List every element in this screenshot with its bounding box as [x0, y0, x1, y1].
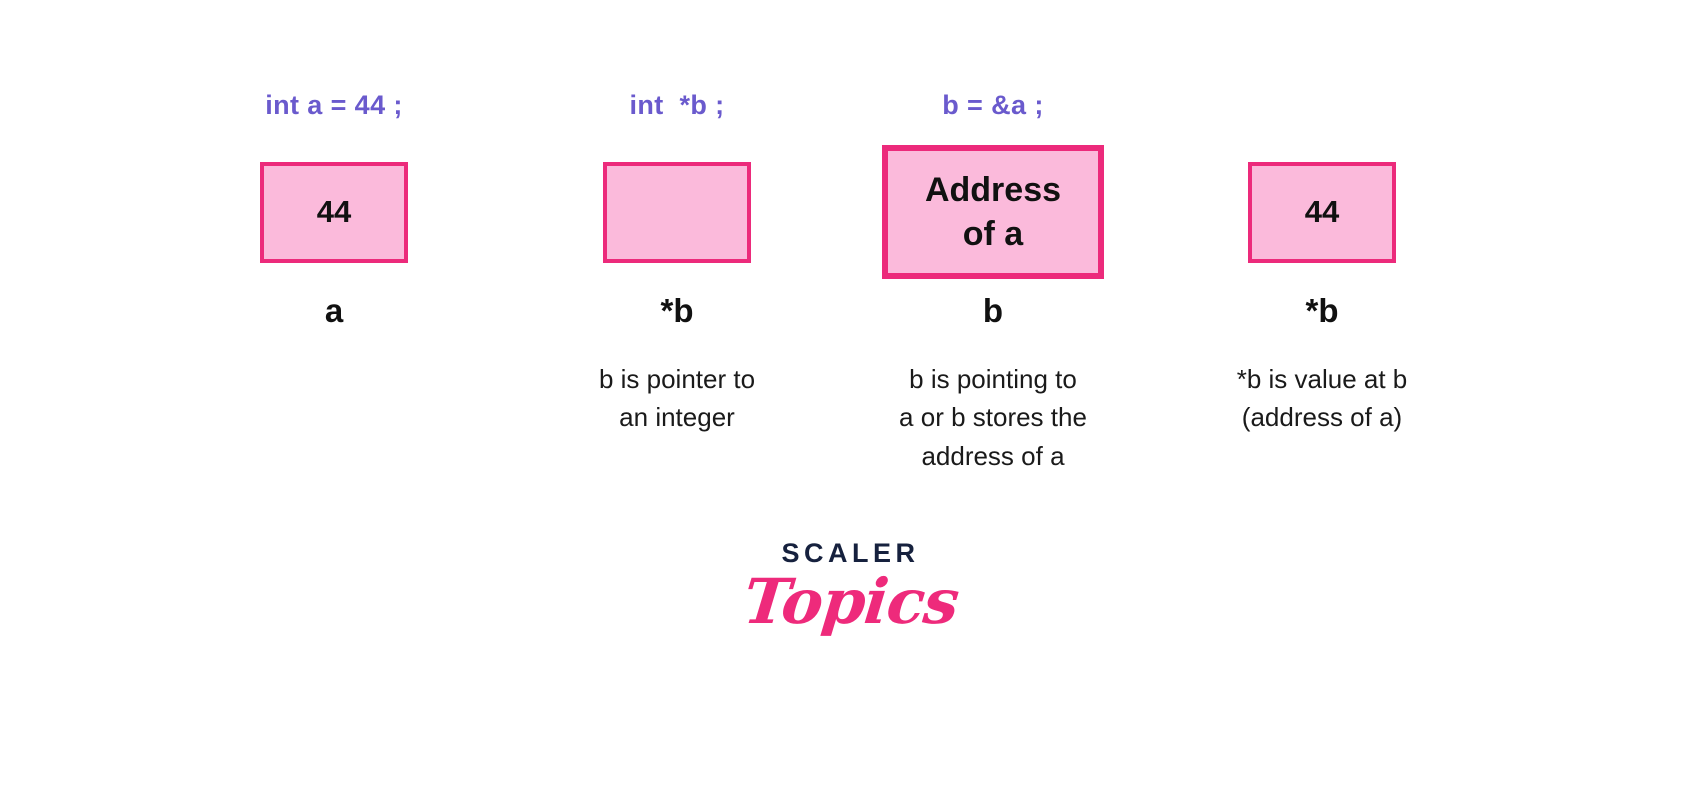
caption-line: (address of a): [1237, 398, 1408, 436]
memory-box-a: 44: [260, 162, 408, 263]
code-label-address-assign: b = &a ;: [942, 88, 1043, 122]
caption-line: b is pointing to: [899, 360, 1087, 398]
memory-box-slot-dereference: 44: [1248, 138, 1396, 286]
memory-box-address-assign-line1: Address: [925, 168, 1061, 212]
var-name-dereference: *b: [1306, 294, 1339, 330]
memory-box-slot-pointer-decl: [603, 138, 751, 286]
diagram-column-a: int a = 44 ; 44 a: [184, 88, 484, 360]
var-name-pointer-decl: *b: [661, 294, 694, 330]
var-name-a: a: [325, 294, 343, 330]
memory-box-a-value: 44: [317, 194, 351, 231]
pointer-diagram: int a = 44 ; 44 a int *b ; *b b is point…: [0, 0, 1701, 811]
memory-box-dereference-value: 44: [1305, 194, 1339, 231]
var-name-address-assign: b: [983, 294, 1003, 330]
memory-box-dereference: 44: [1248, 162, 1396, 263]
code-label-a: int a = 44 ;: [265, 88, 403, 122]
memory-box-pointer-decl: [603, 162, 751, 263]
diagram-column-pointer-decl: int *b ; *b b is pointer to an integer: [527, 88, 827, 437]
diagram-column-dereference: 44 *b *b is value at b (address of a): [1172, 88, 1472, 437]
caption-line: an integer: [599, 398, 755, 436]
memory-box-address-assign-line2: of a: [963, 212, 1023, 256]
logo-script-topics: Topics: [740, 569, 961, 634]
logo-wordmark: SCALER: [781, 540, 919, 567]
caption-line: a or b stores the: [899, 398, 1087, 436]
code-label-pointer-decl: int *b ;: [629, 88, 724, 122]
memory-box-address-assign: Address of a: [882, 145, 1104, 279]
diagram-column-address-assign: b = &a ; Address of a b b is pointing to…: [843, 88, 1143, 475]
caption-dereference: *b is value at b (address of a): [1237, 360, 1408, 437]
memory-box-slot-a: 44: [260, 138, 408, 286]
caption-line: *b is value at b: [1237, 360, 1408, 398]
caption-line: address of a: [899, 437, 1087, 475]
caption-address-assign: b is pointing to a or b stores the addre…: [899, 360, 1087, 475]
memory-box-slot-address-assign: Address of a: [882, 138, 1104, 286]
caption-pointer-decl: b is pointer to an integer: [599, 360, 755, 437]
scaler-topics-logo: SCALER Topics: [0, 540, 1701, 634]
caption-line: b is pointer to: [599, 360, 755, 398]
